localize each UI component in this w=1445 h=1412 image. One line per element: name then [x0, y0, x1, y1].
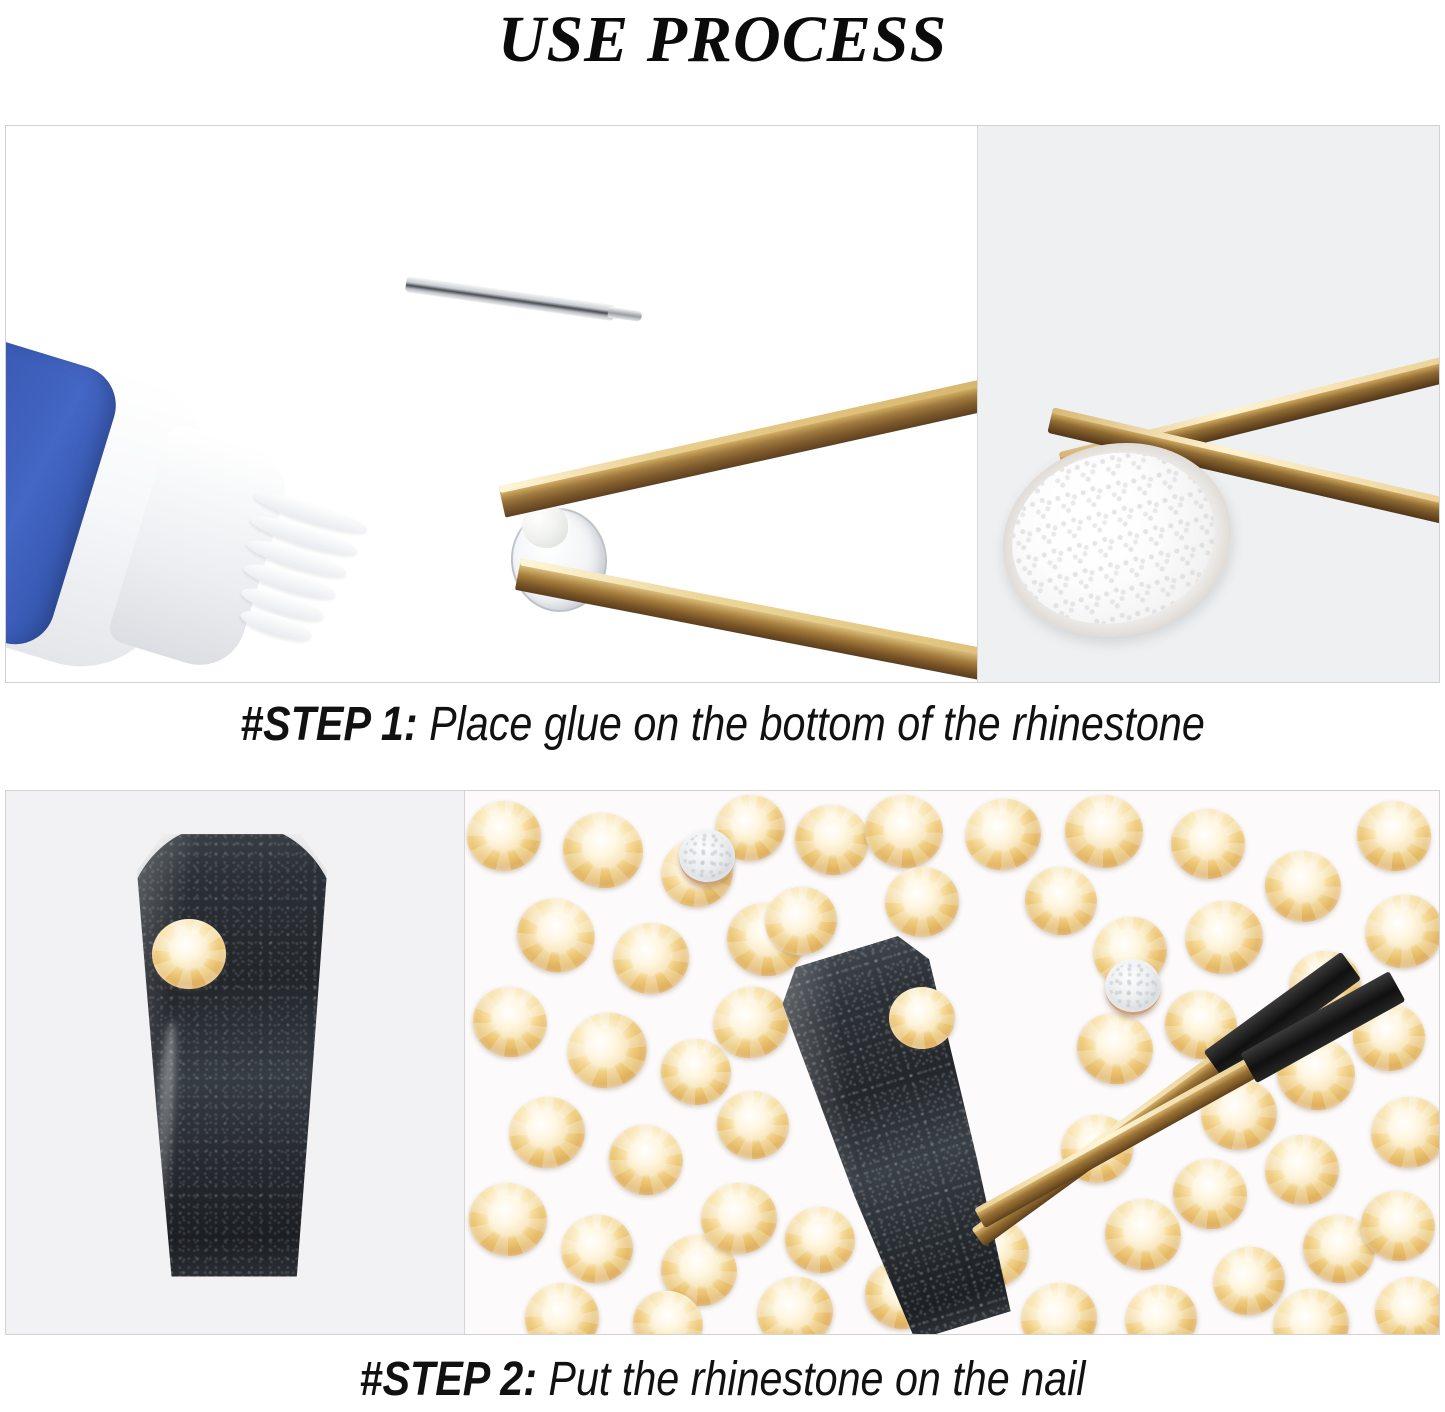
- rhinestone-flatback-surface: [995, 433, 1232, 644]
- rhinestone-crystal: [749, 1269, 840, 1334]
- rhinestone-crystal: [506, 887, 606, 984]
- rhinestone-crystal: [465, 1179, 550, 1260]
- step-1-image-row: [5, 125, 1440, 683]
- glue-applicator-photo: [6, 126, 977, 682]
- rhinestone-crystal: [1060, 791, 1147, 873]
- step-2-caption: #STEP 2: Put the rhinestone on the nail: [101, 1352, 1344, 1408]
- rhinestone-crystal: [464, 797, 544, 874]
- rhinestone-crystal: [1261, 1131, 1342, 1208]
- rhinestone-crystal: [1178, 894, 1269, 982]
- finished-nail-photo: [6, 791, 464, 1334]
- applied-rhinestone: [152, 919, 226, 989]
- rhinestone-crystal: [1118, 1277, 1204, 1334]
- step-1-text: Place glue on the bottom of the rhinesto…: [418, 698, 1205, 751]
- rhinestone-being-placed: [889, 987, 955, 1049]
- tweezer-arm-upper: [499, 365, 978, 517]
- step-2-image-row: [5, 790, 1440, 1335]
- rhinestone-crystal: [1018, 860, 1103, 941]
- glued-rhinestone-photo: [977, 126, 1439, 682]
- rhinestone-crystal: [1372, 1275, 1439, 1334]
- rhinestone-crystal: [522, 1281, 601, 1334]
- glue-needle-tip: [405, 276, 615, 321]
- tweezer-arm-lower: [515, 558, 977, 682]
- rhinestone-crystal: [1069, 1005, 1160, 1092]
- rhinestone-crystal: [786, 796, 876, 884]
- step-2-text: Put the rhinestone on the nail: [537, 1353, 1085, 1406]
- rhinestone-crystal: [781, 1204, 858, 1277]
- rhinestone-crystal: [556, 806, 650, 896]
- step-2-label: #STEP 2:: [360, 1353, 537, 1406]
- glue-bottle: [6, 314, 391, 682]
- rhinestone-crystal: [553, 1206, 641, 1291]
- press-on-nail: [124, 825, 340, 1281]
- rhinestone-crystal: [608, 918, 693, 999]
- rhinestone-crystal: [600, 1115, 692, 1204]
- rhinestone-crystal: [502, 1090, 591, 1175]
- step-1-caption: #STEP 1: Place glue on the bottom of the…: [101, 697, 1344, 753]
- step-1-label: #STEP 1:: [240, 698, 417, 751]
- rhinestone-crystal: [1357, 887, 1439, 977]
- rhinestone-crystal: [880, 862, 963, 942]
- rhinestone-crystal: [712, 1086, 793, 1163]
- rhinestone-crystal: [1260, 846, 1345, 927]
- rhinestone-crystal: [556, 1002, 657, 1100]
- applying-rhinestone-photo: [464, 791, 1439, 1334]
- rhinestone-crystal: [1366, 1092, 1439, 1173]
- rhinestone-flatback: [1104, 958, 1162, 1016]
- rhinestone-crystal: [1099, 1193, 1186, 1276]
- page-title: USE PROCESS: [0, 0, 1445, 76]
- rhinestone-crystal: [1015, 1277, 1102, 1334]
- rhinestone-crystal: [859, 791, 948, 874]
- rhinestone-crystal: [1351, 795, 1436, 877]
- nail-gloss-highlight: [148, 1021, 180, 1250]
- rhinestone-crystal: [956, 791, 1049, 879]
- rhinestone-crystal: [464, 978, 554, 1066]
- rhinestone-crystal: [1167, 805, 1248, 882]
